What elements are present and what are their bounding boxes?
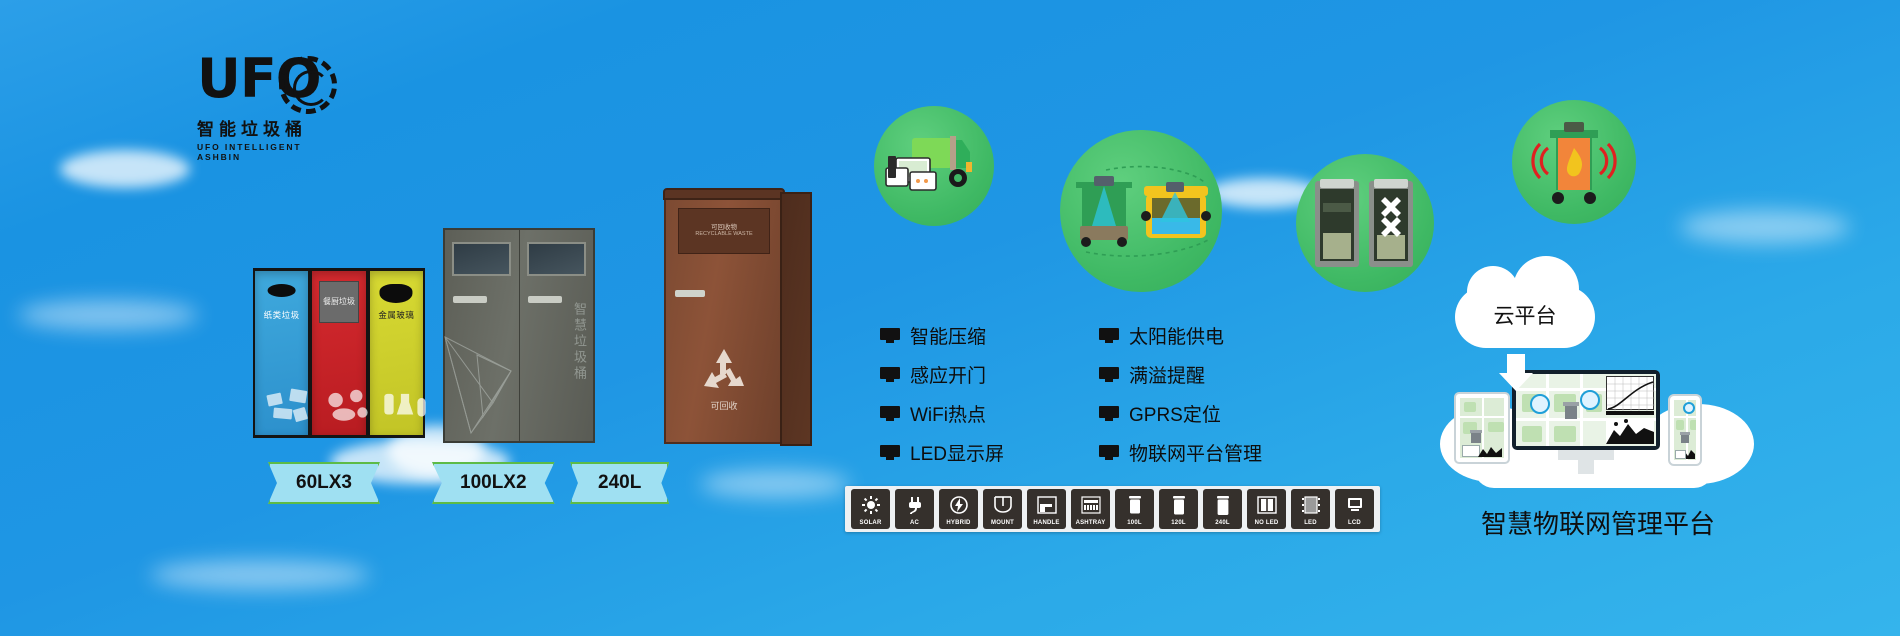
map-zone-marker: [1580, 390, 1600, 410]
dashboard-line-chart: [1606, 376, 1654, 410]
feature-label: 太阳能供电: [1129, 322, 1224, 349]
phone-map-view: [1674, 400, 1696, 460]
led-icon: [1291, 489, 1330, 520]
monitor-icon: [880, 406, 900, 421]
spec-icon-ashtray[interactable]: ASHTRAY: [1071, 489, 1110, 529]
spec-icon-no-led[interactable]: NO LED: [1247, 489, 1286, 529]
feature-item: 智能压缩: [880, 322, 1081, 349]
phone-device: [1668, 394, 1702, 466]
dashboard-area-chart: [1606, 418, 1654, 444]
cloud-platform-bubble: 云平台: [1455, 286, 1595, 348]
bin-side-body: [780, 192, 812, 446]
feature-item: LED显示屏: [880, 439, 1081, 466]
fleet-monitoring-icon: [882, 126, 986, 206]
feature-label: 智能压缩: [910, 322, 986, 349]
spec-icon-handle[interactable]: HANDLE: [1027, 489, 1066, 529]
bin-handle: [453, 296, 487, 303]
spec-icon-100l[interactable]: 100L: [1115, 489, 1154, 529]
map-zone-marker: [1683, 402, 1695, 414]
bin-marker-icon: [1466, 430, 1486, 444]
cloud-platform-label: 云平台: [1455, 300, 1595, 330]
spec-icon-caption: AC: [895, 520, 934, 529]
fill-level-sensor-icon: [1066, 156, 1216, 266]
bin-compartment-kitchen: 餐厨垃圾: [310, 268, 367, 438]
bin-compartment-paper: 纸类垃圾: [253, 268, 310, 438]
feature-label: 感应开门: [910, 361, 986, 388]
mini-chart-icon: [1478, 445, 1502, 457]
bin-handle: [675, 290, 705, 297]
cloud-decoration: [1680, 210, 1850, 244]
bin-window: [452, 242, 511, 276]
feature-item: WiFi热点: [880, 400, 1081, 427]
desktop-monitor: [1512, 370, 1660, 450]
bin-info-panel: 可回收物 RECYCLABLE WASTE: [678, 208, 770, 254]
bin-recycle-label: 可回收: [666, 399, 782, 412]
spec-icon-hybrid[interactable]: HYBRID: [939, 489, 978, 529]
bin-100lx2: 智慧垃圾桶: [443, 228, 595, 443]
monitor-base: [1554, 474, 1618, 482]
fire-alarm-icon: [1522, 114, 1626, 210]
feature-circle-compaction-bin: [1296, 154, 1434, 292]
spec-icon-caption: 120L: [1159, 520, 1198, 529]
platform-title: 智慧物联网管理平台: [1443, 504, 1753, 541]
feature-item: 感应开门: [880, 361, 1081, 388]
feature-label: WiFi热点: [910, 400, 986, 427]
spec-icon-caption: NO LED: [1247, 520, 1286, 529]
spec-icon-caption: 240L: [1203, 520, 1242, 529]
tablet-device: [1454, 392, 1510, 464]
feature-item: 太阳能供电: [1099, 322, 1300, 349]
bin-slot: [380, 284, 413, 303]
logo-english-name: UFO INTELLIGENT ASHBIN: [197, 142, 337, 162]
spec-icon-caption: SOLAR: [851, 520, 890, 529]
product-banner: UFO 智能垃圾桶 UFO INTELLIGENT ASHBIN 纸类垃圾 餐厨…: [0, 0, 1900, 636]
logo-ring-icon: [279, 56, 337, 114]
monitor-icon: [1099, 367, 1119, 382]
spec-icon-120l[interactable]: 120L: [1159, 489, 1198, 529]
bin-slot: [267, 284, 296, 297]
feature-label: 物联网平台管理: [1129, 439, 1262, 466]
feature-circle-fill-level-sensor: [1060, 130, 1222, 292]
bin-side-text: 智慧垃圾桶: [570, 302, 589, 382]
monitor-icon: [1099, 445, 1119, 460]
spec-icon-caption: ASHTRAY: [1071, 520, 1110, 529]
spec-icon-caption: 100L: [1115, 520, 1154, 529]
bin-240l-icon: [1203, 489, 1242, 520]
spec-icon-caption: MOUNT: [983, 520, 1022, 529]
bin-display-panel: 餐厨垃圾: [319, 281, 360, 323]
handle-icon: [1027, 489, 1066, 520]
lcd-icon: [1335, 489, 1374, 520]
hybrid-power-icon: [939, 489, 978, 520]
monitor-icon: [1099, 406, 1119, 421]
monitor-icon: [880, 367, 900, 382]
dashboard-map-view: [1516, 374, 1656, 446]
spec-icon-caption: HYBRID: [939, 520, 978, 529]
feature-item: 物联网平台管理: [1099, 439, 1300, 466]
spec-icon-ac[interactable]: AC: [895, 489, 934, 529]
ashtray-icon: [1071, 489, 1110, 520]
bin-panel-title: 可回收物: [679, 221, 769, 231]
spec-icon-caption: HANDLE: [1027, 520, 1066, 529]
feature-label: GPRS定位: [1129, 400, 1221, 427]
bin-compartment-label: 纸类垃圾: [255, 309, 308, 321]
size-badge-240l: 240L: [570, 462, 669, 504]
bin-120l-icon: [1159, 489, 1198, 520]
bin-100l-icon: [1115, 489, 1154, 520]
monitor-icon: [1099, 328, 1119, 343]
feature-label: LED显示屏: [910, 439, 1004, 466]
dashboard-devices: [1430, 352, 1760, 500]
bin-compartment-label: 金属玻璃: [370, 309, 423, 321]
bin-lid: [663, 188, 785, 200]
no-led-icon: [1247, 489, 1286, 520]
sun-icon: [851, 489, 890, 520]
cloud-decoration: [18, 300, 198, 330]
bin-240l: 可回收物 RECYCLABLE WASTE 可回收: [664, 196, 784, 444]
plug-icon: [895, 489, 934, 520]
feature-item: GPRS定位: [1099, 400, 1300, 427]
cloud-decoration: [60, 150, 190, 188]
feature-item: 满溢提醒: [1099, 361, 1300, 388]
tablet-map-view: [1460, 398, 1504, 458]
spec-icon-led[interactable]: LED: [1291, 489, 1330, 529]
spec-icon-solar[interactable]: SOLAR: [851, 489, 890, 529]
bin-60lx3: 纸类垃圾 餐厨垃圾 金属玻璃: [253, 268, 425, 438]
bin-panel-subtitle: RECYCLABLE WASTE: [679, 231, 769, 237]
map-zone-marker: [1530, 394, 1550, 414]
monitor-icon: [880, 445, 900, 460]
spec-icon-lcd[interactable]: LCD: [1335, 489, 1374, 529]
spec-icon-240l[interactable]: 240L: [1203, 489, 1242, 529]
bin-handle: [528, 296, 562, 303]
bin-window: [527, 242, 586, 276]
feature-circle-fleet-monitoring: [874, 106, 994, 226]
bin-door-left: [445, 230, 520, 441]
compaction-bin-icon: [1307, 173, 1423, 273]
bin-door-right: 智慧垃圾桶: [520, 230, 594, 441]
recycle-icon: [699, 346, 749, 394]
monitor-neck: [1578, 450, 1594, 476]
bin-compartment-label: 餐厨垃圾: [320, 296, 359, 307]
spec-icon-caption: LED: [1291, 520, 1330, 529]
bin-marker-icon: [1560, 402, 1582, 420]
bin-compartment-metal-glass: 金属玻璃: [368, 268, 425, 438]
spec-icon-mount[interactable]: MOUNT: [983, 489, 1022, 529]
spec-icon-strip: SOLAR AC HYBRID MOUNT: [845, 486, 1380, 532]
feature-circle-fire-alarm: [1512, 100, 1636, 224]
metal-glass-waste-art-icon: [374, 367, 436, 429]
cloud-decoration: [700, 470, 850, 498]
logo-chinese-name: 智能垃圾桶: [197, 115, 337, 140]
wall-mount-icon: [983, 489, 1022, 520]
monitor-icon: [880, 328, 900, 343]
feature-label: 满溢提醒: [1129, 361, 1205, 388]
feature-list: 智能压缩 太阳能供电 感应开门 满溢提醒 WiFi热点 GPRS定位 LED显示…: [880, 322, 1300, 466]
size-badge-100lx2: 100LX2: [432, 462, 555, 504]
brand-logo: UFO 智能垃圾桶 UFO INTELLIGENT ASHBIN: [197, 52, 337, 157]
cloud-decoration: [150, 560, 370, 590]
spec-icon-caption: LCD: [1335, 520, 1374, 529]
size-badge-60lx3: 60LX3: [268, 462, 380, 504]
bin-marker-icon: [1677, 432, 1693, 444]
